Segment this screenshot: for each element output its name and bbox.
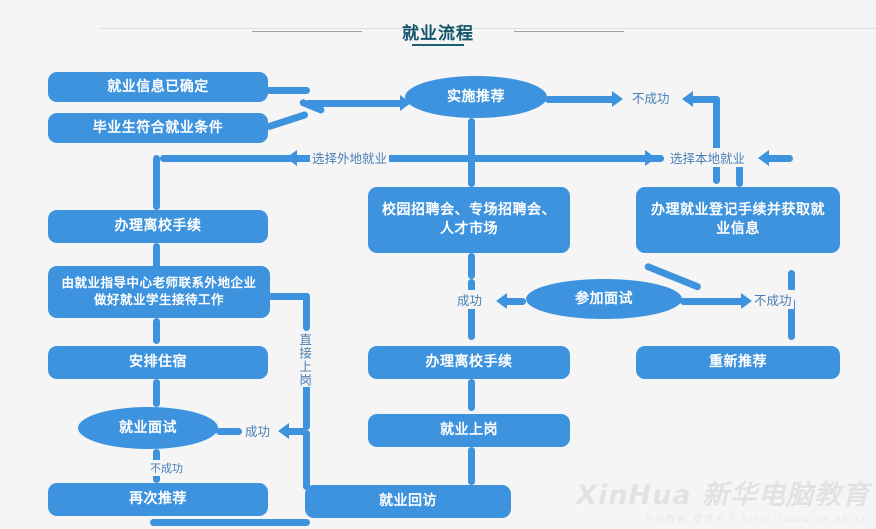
arrowhead-n8-fail [741,293,752,309]
arrowhead-n8-success [496,293,507,309]
edge-fail-col-up [788,270,795,292]
edge-label-unsuccessful-interview: 不成功 [752,290,794,309]
node-implement-recommendation[interactable]: 实施推荐 [405,76,547,118]
arrowhead-n3-right [612,91,623,107]
title-rule-right [514,31,624,32]
edge-n12-success [216,428,242,435]
edge-label-choose-local: 选择本地就业 [668,148,747,167]
node-recommend-again[interactable]: 重新推荐 [636,346,840,379]
node-employment-interview[interactable]: 就业面试 [78,407,218,449]
node-employment-info-confirmed[interactable]: 就业信息已确定 [48,72,268,102]
edge-to-n5 [468,155,475,187]
watermark-subtitle: 专业教育 提速天下 http://www.xh.xh.cn [576,512,870,525]
node-career-center-contacts-enterprises[interactable]: 由就业指导中心老师联系外地企业做好就业学生接待工作 [48,266,270,318]
arrowhead-success-left [278,423,289,439]
edge-n8-fail-h [680,298,746,305]
edge-label-unsuccessful-employment-interview: 不成功 [148,460,185,476]
arrowhead-right-loop [682,91,693,107]
node-employment-followup[interactable]: 就业回访 [305,485,511,518]
arrowhead-bus-right-2 [758,150,769,166]
flowchart-canvas: 就业流程 [0,0,876,529]
edge-n7-n9 [153,318,160,344]
edge-n10-n13 [468,379,475,411]
node-employment-registration[interactable]: 办理就业登记手续并获取就业信息 [636,187,840,253]
edge-n13-n15 [468,447,475,485]
arrowhead-bus-right [645,150,656,166]
page-title: 就业流程 [402,19,474,44]
node-arrange-accommodation[interactable]: 安排住宿 [48,346,268,379]
edge-n2-merge [265,111,309,131]
edge-right-loop-v [713,96,720,184]
edge-n3-right [545,96,617,103]
watermark: XinHua 新华电脑教育 专业教育 提速天下 http://www.xh.xh… [576,482,870,525]
node-recommend-once-more[interactable]: 再次推荐 [48,483,268,516]
node-leave-school-procedures-left[interactable]: 办理离校手续 [48,210,268,243]
node-graduate-meets-conditions[interactable]: 毕业生符合就业条件 [48,113,268,143]
edge-direct-down [303,430,310,490]
edge-n5-n8 [468,253,475,279]
edge-bus-right-tail [765,155,793,162]
node-attend-interview[interactable]: 参加面试 [526,279,682,319]
edge-label-direct-employment: 直接上岗 [296,333,313,387]
arrowhead-bus-left [286,150,297,166]
watermark-brand: XinHua 新华电脑教育 [576,482,870,509]
title-underline [412,44,464,46]
title-rule-left [252,31,362,32]
edge-label-success-employment-interview: 成功 [243,421,272,440]
edge-bus-right [468,155,664,162]
edge-n14-n15 [150,519,310,526]
edge-label-success-interview: 成功 [455,290,484,309]
edge-n9-n12 [153,379,160,407]
page-title-bar: 就业流程 [0,14,876,48]
node-start-job[interactable]: 就业上岗 [368,414,570,447]
edge-label-unsuccessful-top: 不成功 [630,88,672,107]
node-job-fairs[interactable]: 校园招聘会、专场招聘会、人才市场 [368,187,570,253]
edge-to-n4 [153,155,160,210]
edge-label-choose-other-city: 选择外地就业 [310,148,389,167]
node-leave-school-procedures-center[interactable]: 办理离校手续 [368,346,570,379]
edge-merge-to-n3 [305,100,405,107]
edge-n1-merge [266,87,310,94]
edge-n7-down-1 [303,293,310,331]
